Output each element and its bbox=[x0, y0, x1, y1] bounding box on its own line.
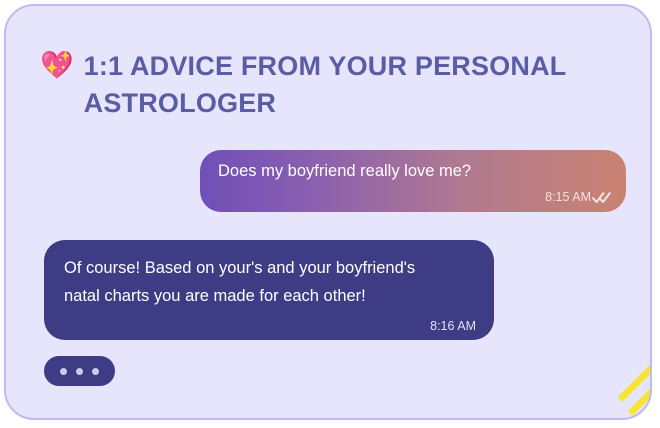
typing-dot bbox=[60, 368, 67, 375]
promo-card: 💖 1:1 ADVICE FROM YOUR PERSONAL ASTROLOG… bbox=[4, 4, 652, 420]
message-text: Of course! Based on your's and your boyf… bbox=[64, 254, 474, 310]
typing-dot bbox=[76, 368, 83, 375]
chat-bubble-incoming[interactable]: Of course! Based on your's and your boyf… bbox=[44, 240, 494, 340]
chat-bubble-outgoing[interactable]: Does my boyfriend really love me? 8:15 A… bbox=[200, 150, 626, 212]
message-timestamp: 8:15 AM bbox=[545, 190, 591, 204]
page-title-text: 1:1 ADVICE FROM YOUR PERSONAL ASTROLOGER bbox=[84, 48, 567, 122]
typing-indicator bbox=[44, 356, 115, 386]
message-text: Does my boyfriend really love me? bbox=[218, 161, 608, 182]
page-title: 💖 1:1 ADVICE FROM YOUR PERSONAL ASTROLOG… bbox=[40, 48, 620, 122]
message-timestamp: 8:16 AM bbox=[430, 319, 476, 333]
screenshot-root: 💖 1:1 ADVICE FROM YOUR PERSONAL ASTROLOG… bbox=[0, 0, 660, 428]
sparkling-heart-icon: 💖 bbox=[40, 48, 74, 82]
accent-stroke bbox=[628, 386, 652, 416]
typing-dot bbox=[92, 368, 99, 375]
message-meta: 8:15 AM bbox=[545, 190, 611, 204]
double-check-icon bbox=[592, 191, 611, 204]
pencil-accent-icon bbox=[610, 380, 652, 420]
accent-stroke bbox=[618, 364, 652, 401]
